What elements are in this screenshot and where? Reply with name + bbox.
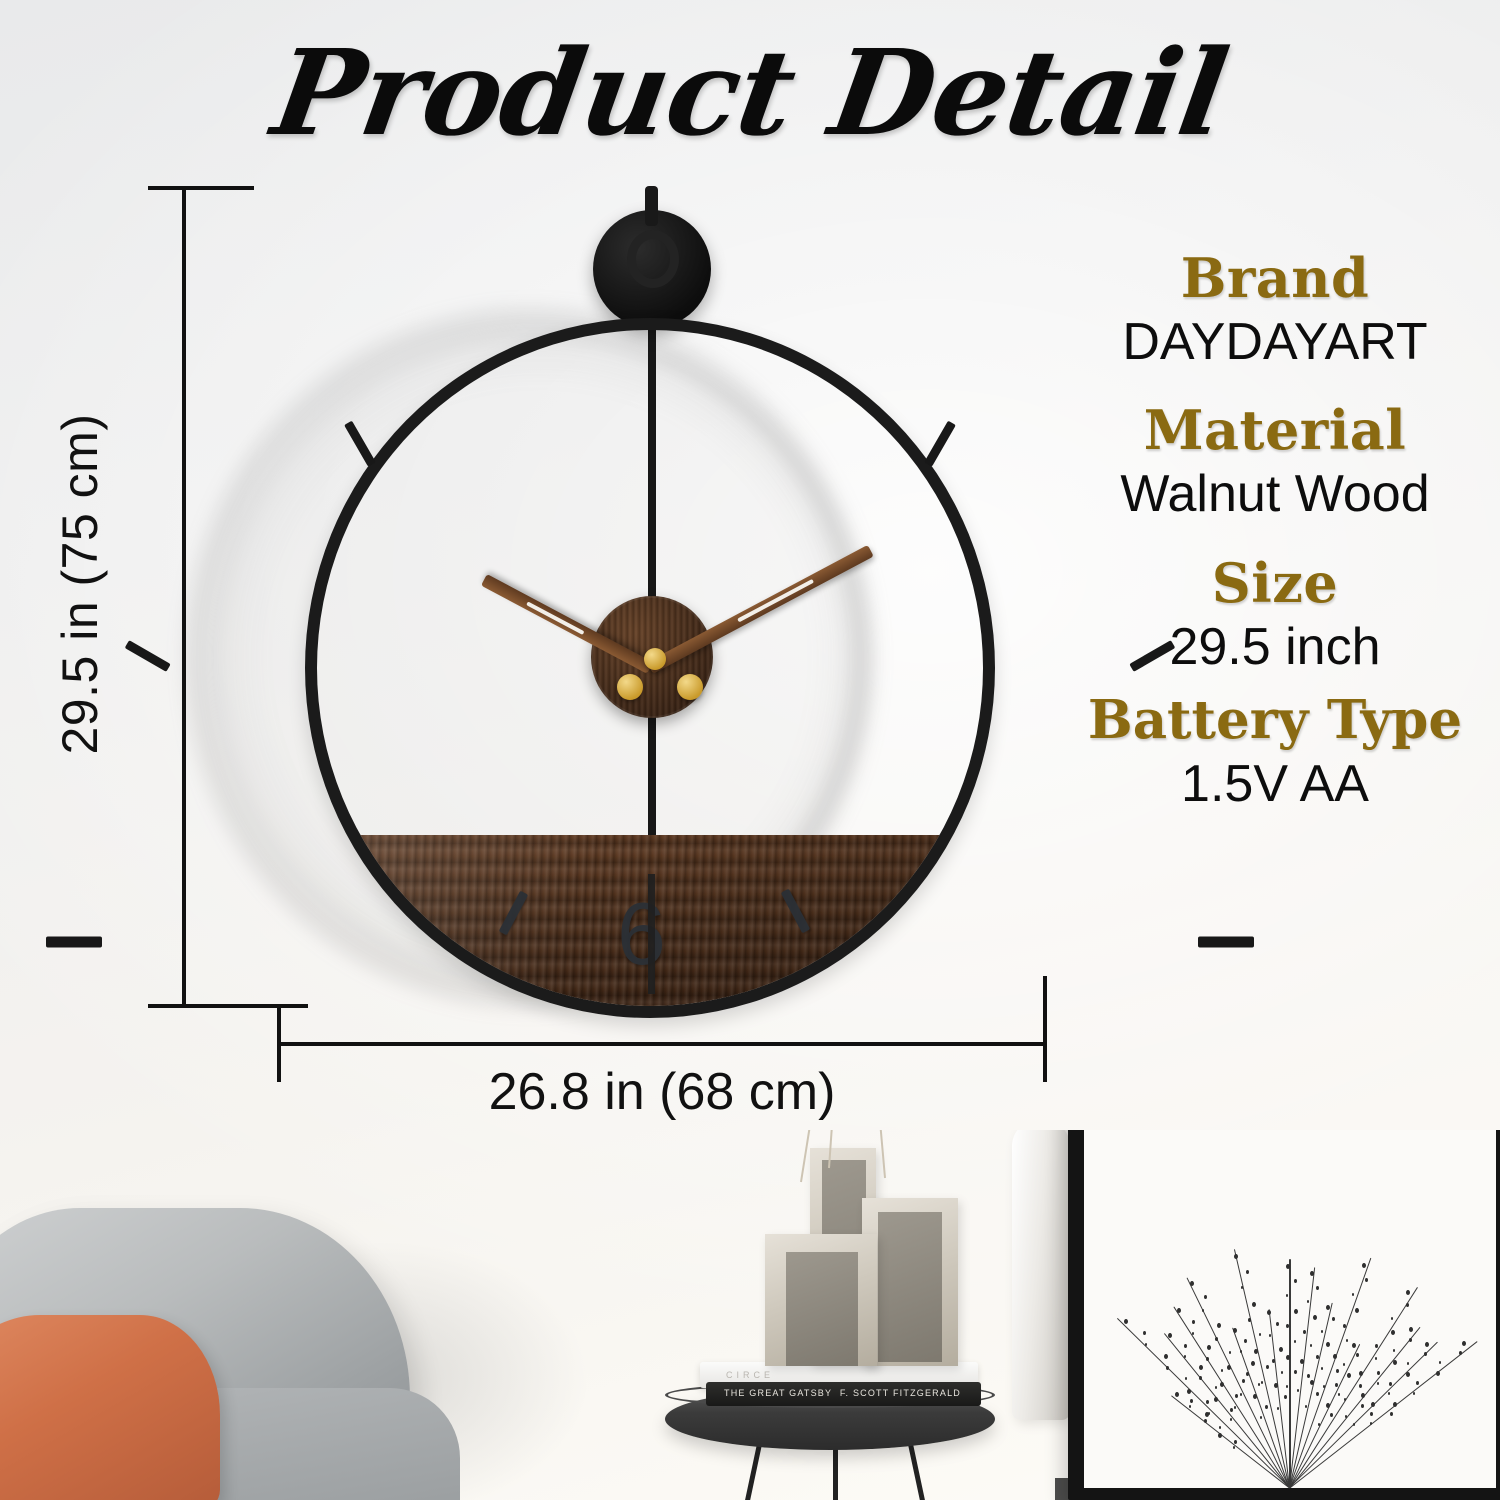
artwork-bud — [1310, 1271, 1314, 1276]
artwork-bud — [1413, 1392, 1415, 1395]
artwork-bud — [1221, 1369, 1223, 1372]
artwork-bud — [1359, 1371, 1363, 1376]
artwork-bud — [1391, 1330, 1395, 1335]
artwork-bud — [1375, 1344, 1378, 1348]
artwork-bud — [1389, 1382, 1392, 1386]
artwork-bud — [1377, 1382, 1379, 1385]
artwork-bud — [1207, 1345, 1211, 1350]
spec-battery-type: Battery Type 1.5V AA — [1060, 693, 1490, 814]
artwork-bud — [1390, 1412, 1393, 1416]
artwork-bud — [1175, 1392, 1179, 1397]
artwork-bud — [1459, 1351, 1462, 1355]
spec-size-label: Size — [1060, 555, 1490, 612]
artwork-bud — [1361, 1393, 1365, 1398]
height-dimension-cap-top — [148, 186, 254, 190]
spec-battery-type-value: 1.5V AA — [1060, 755, 1490, 815]
sculpture-right-inner — [878, 1212, 942, 1362]
artwork-bud — [1316, 1392, 1319, 1396]
artwork-bud — [1251, 1361, 1255, 1366]
artwork-branch — [1289, 1344, 1360, 1489]
page-title: Product Detail — [0, 34, 1500, 152]
artwork-bud — [1265, 1405, 1268, 1409]
artwork-bud — [1294, 1370, 1297, 1374]
artwork-bud — [1365, 1278, 1368, 1282]
artwork-bud — [1234, 1406, 1236, 1409]
spec-brand: Brand DAYDAYART — [1060, 250, 1490, 372]
artwork-bud — [1124, 1319, 1128, 1324]
artwork-bud — [1240, 1393, 1242, 1396]
artwork-bud — [1352, 1293, 1354, 1296]
artwork-bud — [1286, 1355, 1290, 1360]
artwork-bud — [1409, 1338, 1412, 1342]
height-dimension-label: 29.5 in (75 cm) — [51, 354, 109, 814]
artwork-bud — [1462, 1341, 1466, 1346]
artwork-bud — [1259, 1333, 1261, 1336]
clock-hour-tick-2 — [924, 421, 956, 467]
artwork-bud — [1266, 1365, 1269, 1369]
artwork-bud — [1326, 1342, 1330, 1347]
clock-hour-tick-4 — [46, 937, 102, 948]
artwork-bud — [1204, 1419, 1207, 1423]
artwork-bud — [1371, 1402, 1375, 1407]
artwork-bud — [1346, 1339, 1348, 1342]
room-scene: CIRCE THE GREAT GATSBY F. SCOTT FITZGERA… — [0, 1130, 1500, 1500]
artwork-bud — [1284, 1395, 1287, 1399]
artwork-bud — [1307, 1374, 1310, 1378]
artwork-bud — [1252, 1302, 1256, 1307]
artwork-bud — [1370, 1412, 1373, 1416]
artwork-bud — [1177, 1308, 1181, 1313]
artwork-bud — [1241, 1286, 1243, 1289]
artwork-bud — [1184, 1355, 1186, 1358]
artwork-bud — [1425, 1342, 1429, 1347]
spec-battery-type-label: Battery Type — [1060, 693, 1490, 749]
artwork-bud — [1344, 1398, 1346, 1401]
artwork-bud — [1164, 1354, 1168, 1359]
artwork-bud — [1145, 1343, 1147, 1346]
artwork-branch — [1290, 1342, 1439, 1488]
artwork-bud — [1219, 1426, 1221, 1429]
height-dimension-cap-bottom — [148, 1004, 308, 1008]
artwork-bud — [1361, 1404, 1364, 1408]
book-circe-title: CIRCE — [726, 1370, 774, 1380]
artwork-bud — [1190, 1399, 1193, 1403]
artwork-bud — [1240, 1350, 1242, 1353]
artwork-bud — [1332, 1317, 1335, 1321]
artwork-bud — [1276, 1322, 1279, 1326]
artwork-bud — [1316, 1355, 1319, 1359]
book-great-gatsby: THE GREAT GATSBY F. SCOTT FITZGERALD — [706, 1382, 981, 1406]
artwork-bud — [1330, 1413, 1333, 1417]
artwork-bud — [1307, 1300, 1309, 1303]
throw-cushion — [0, 1315, 220, 1500]
artwork-bud — [1206, 1400, 1209, 1404]
clock-brass-stud-1 — [617, 674, 643, 700]
artwork-bud — [1279, 1347, 1283, 1352]
artwork-bud — [1261, 1381, 1263, 1384]
clock-rod-lower — [648, 874, 655, 994]
artwork-bud — [1424, 1352, 1427, 1356]
artwork-bud — [1286, 1385, 1288, 1388]
framed-artwork — [1084, 1130, 1496, 1488]
artwork-bud — [1436, 1371, 1440, 1376]
artwork-bud — [1244, 1339, 1247, 1343]
spec-size: Size 29.5 inch — [1060, 555, 1490, 677]
width-dimension-line — [277, 1042, 1047, 1046]
artwork-bud — [1272, 1359, 1275, 1363]
artwork-bud — [1333, 1354, 1337, 1359]
spec-material-label: Material — [1060, 402, 1490, 459]
spec-brand-label: Brand — [1060, 250, 1490, 307]
artwork-bud — [1230, 1418, 1232, 1421]
artwork-bud — [1336, 1369, 1339, 1373]
artwork-bud — [1343, 1324, 1346, 1328]
artwork-bud — [1439, 1361, 1441, 1364]
artwork-bud — [1267, 1310, 1271, 1315]
spec-size-value: 29.5 inch — [1060, 618, 1490, 678]
artwork-branch — [1289, 1259, 1290, 1488]
product-detail-image: Product Detail 6 29.5 in (75 cm) — [0, 0, 1500, 1500]
artwork-bud — [1192, 1320, 1195, 1324]
artwork-bud — [1258, 1383, 1260, 1386]
spec-material-value: Walnut Wood — [1060, 465, 1490, 525]
artwork-bud — [1199, 1376, 1202, 1380]
artwork-bud — [1321, 1367, 1323, 1370]
artwork-bud — [1184, 1344, 1187, 1348]
artwork-bud — [1286, 1264, 1290, 1269]
artwork-bud — [1326, 1305, 1330, 1310]
book-great-gatsby-title: THE GREAT GATSBY — [724, 1388, 832, 1398]
artwork-bud — [1406, 1303, 1409, 1307]
artwork-bud — [1338, 1393, 1340, 1396]
artwork-bud — [1286, 1294, 1288, 1297]
spec-brand-value: DAYDAYART — [1060, 313, 1490, 373]
artwork-bud — [1356, 1353, 1359, 1357]
artwork-bud — [1323, 1385, 1325, 1388]
artwork-bud — [1294, 1340, 1296, 1343]
artwork-bud — [1230, 1408, 1233, 1412]
artwork-bud — [1355, 1308, 1359, 1313]
artwork-bud — [1391, 1317, 1393, 1320]
artwork-bud — [1204, 1295, 1207, 1299]
wall-mount-ring — [627, 230, 679, 288]
artwork-bud — [1234, 1254, 1238, 1259]
artwork-bud — [1248, 1318, 1251, 1322]
artwork-bud — [1347, 1373, 1351, 1378]
artwork-bud — [1310, 1344, 1312, 1347]
artwork-bud — [1234, 1440, 1237, 1444]
artwork-bud — [1215, 1337, 1218, 1341]
specification-list: Brand DAYDAYART Material Walnut Wood Siz… — [1060, 250, 1490, 845]
artwork-bud — [1189, 1405, 1191, 1408]
artwork-bud — [1208, 1412, 1210, 1415]
clock-hour-tick-5 — [1198, 937, 1254, 948]
artwork-bud — [1362, 1263, 1366, 1268]
artwork-bud — [1187, 1389, 1191, 1394]
artwork-bud — [1313, 1315, 1317, 1320]
width-dimension-label: 26.8 in (68 cm) — [277, 1062, 1047, 1122]
artwork-bud — [1235, 1394, 1238, 1398]
artwork-bud — [1388, 1392, 1390, 1395]
artwork-bud — [1406, 1372, 1410, 1377]
artwork-bud — [1409, 1327, 1413, 1332]
artwork-bud — [1406, 1290, 1410, 1295]
sculpture-front-inner — [786, 1252, 858, 1366]
artwork-bud — [1246, 1270, 1249, 1274]
artwork-bud — [1233, 1328, 1237, 1333]
artwork-bud — [1335, 1383, 1338, 1387]
artwork-bud — [1316, 1286, 1319, 1290]
artwork-bud — [1375, 1357, 1377, 1360]
artwork-bud — [1326, 1403, 1330, 1408]
artwork-bud — [1218, 1433, 1222, 1438]
artwork-bud — [1377, 1371, 1380, 1375]
artwork-bud — [1220, 1382, 1224, 1387]
artwork-bud — [1343, 1363, 1345, 1366]
artwork-bud — [1168, 1333, 1172, 1338]
clock-brass-stud-2 — [677, 674, 703, 700]
artwork-bud — [1294, 1279, 1297, 1283]
artwork-bud — [1352, 1343, 1356, 1348]
artwork-bud — [1215, 1386, 1217, 1389]
clock-brass-stud-0 — [644, 648, 666, 670]
artwork-bud — [1206, 1357, 1209, 1361]
artwork-bud — [1359, 1384, 1362, 1388]
artwork-bud — [1277, 1407, 1279, 1410]
artwork-bud — [1407, 1362, 1409, 1365]
artwork-bud — [1185, 1377, 1187, 1380]
height-dimension-line — [182, 186, 186, 1008]
artwork-branch — [1289, 1267, 1315, 1488]
artwork-bud — [1217, 1323, 1221, 1328]
floor-lamp — [1012, 1130, 1070, 1420]
artwork-bud — [1393, 1349, 1395, 1352]
artwork-bud — [1242, 1379, 1245, 1383]
artwork-bud — [1233, 1446, 1235, 1449]
clock-numeral-six: 6 — [617, 890, 666, 978]
book-great-gatsby-author: F. SCOTT FITZGERALD — [840, 1388, 961, 1398]
artwork-bud — [1318, 1423, 1320, 1426]
wall-clock: 6 — [305, 318, 995, 1018]
artwork-bud — [1229, 1351, 1231, 1354]
wall-mount-stem — [645, 186, 658, 226]
artwork-bud — [1353, 1423, 1355, 1426]
artwork-bud — [1321, 1330, 1323, 1333]
artwork-bud — [1143, 1331, 1146, 1335]
artwork-bud — [1294, 1309, 1298, 1314]
artwork-bud — [1260, 1416, 1262, 1419]
artwork-bud — [1281, 1371, 1283, 1374]
artwork-branch — [1117, 1318, 1290, 1488]
spec-material: Material Walnut Wood — [1060, 402, 1490, 524]
artwork-bud — [1393, 1360, 1397, 1365]
artwork-bud — [1190, 1281, 1194, 1286]
artwork-bud — [1199, 1365, 1203, 1370]
